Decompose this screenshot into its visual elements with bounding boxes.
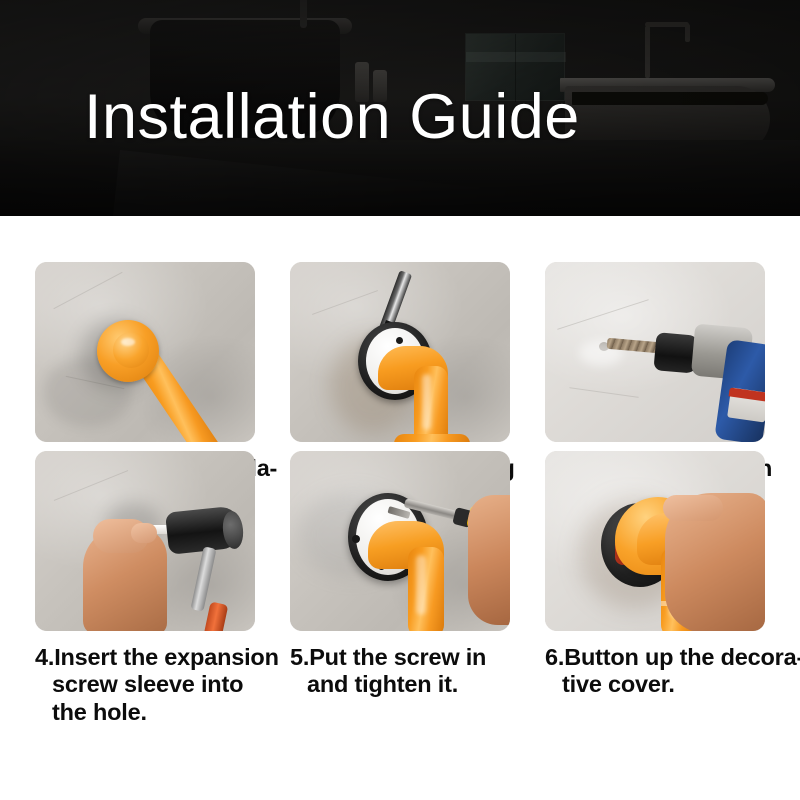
screw-hole-top (396, 337, 403, 344)
step-card-4: 4.Insert the expansion screw sleeve into… (35, 451, 255, 631)
hand (468, 495, 510, 625)
step-4-caption: 4.Insert the expansion screw sleeve into… (35, 644, 255, 726)
installation-guide-page: Installation Guide 1.Confirm the (0, 0, 800, 800)
step-2-photo (290, 262, 510, 442)
step-5-caption: 5.Put the screw in and tighten it. (290, 644, 510, 699)
step-6-photo (545, 451, 765, 631)
grab-bar-tube (414, 366, 448, 442)
screw-hole-left (352, 535, 360, 543)
step-1-photo (35, 262, 255, 442)
header-banner: Installation Guide (0, 0, 800, 216)
step-card-3: 3.Use tools to punch holes. (545, 262, 765, 442)
step-4-photo (35, 451, 255, 631)
step-card-5: 5.Put the screw in and tighten it. (290, 451, 510, 631)
step-card-1: 1.Confirm the installa- tion location. (35, 262, 255, 442)
step-3-photo (545, 262, 765, 442)
steps-grid: 1.Confirm the installa- tion location. (0, 216, 800, 800)
step-5-photo (290, 451, 510, 631)
step-6-caption: 6.Button up the decora- tive cover. (545, 644, 765, 699)
page-title: Installation Guide (84, 86, 580, 149)
step-card-6: 6.Button up the decora- tive cover. (545, 451, 765, 631)
step-card-2: 2.Mark the punching position (290, 262, 510, 442)
grab-bar-tube (408, 547, 444, 631)
